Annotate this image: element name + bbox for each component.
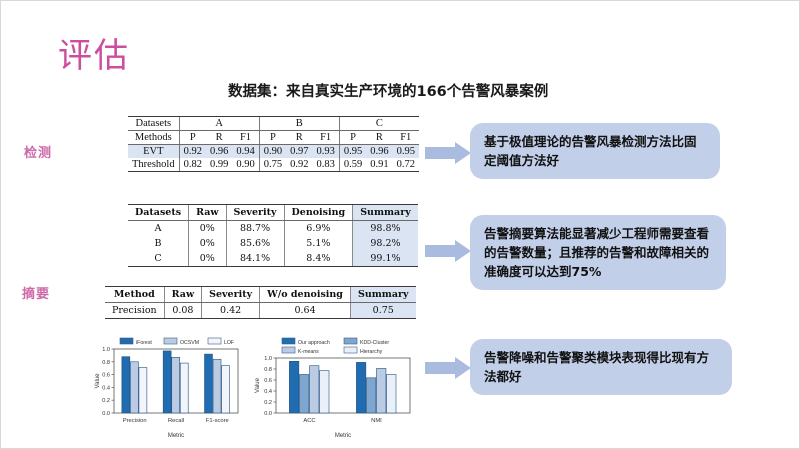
header-c-p: P — [339, 131, 366, 145]
bar-0-1 — [299, 375, 308, 414]
cell-threshold-b-p: 0.75 — [259, 158, 286, 172]
legend-swatch — [282, 347, 295, 353]
cell-evt-c-r: 0.96 — [366, 145, 392, 159]
section-label-summary: 摘要 — [22, 287, 50, 303]
header-raw: Raw — [189, 205, 226, 221]
header-c-f1: F1 — [393, 131, 419, 145]
y-tick-label-4: 0.8 — [102, 360, 110, 366]
cell-raw: 0% — [189, 251, 226, 267]
cell-threshold-a-r: 0.99 — [206, 158, 232, 172]
bar-2-2 — [222, 366, 230, 413]
bar-0-2 — [139, 368, 147, 413]
header-c-r: R — [366, 131, 392, 145]
cell-raw: 0.08 — [164, 303, 201, 319]
cell-summary: 99.1% — [353, 251, 418, 267]
y-axis-label: Value — [255, 377, 261, 393]
y-tick-label-3: 0.6 — [264, 378, 272, 384]
header-method: Method — [105, 287, 164, 303]
header-b-f1: F1 — [312, 131, 339, 145]
callout-detection: 基于极值理论的告警风暴检测方法比固定阈值方法好 — [470, 123, 720, 179]
table-header-row: Method Raw Severity W/o denoising Summar… — [105, 287, 416, 303]
header-datasets: Datasets — [128, 117, 179, 131]
header-summary: Summary — [353, 205, 418, 221]
header-summary: Summary — [350, 287, 415, 303]
cell-threshold-b-f1: 0.83 — [312, 158, 339, 172]
cell-threshold-c-f1: 0.72 — [393, 158, 419, 172]
header-denoising: Denoising — [284, 205, 353, 221]
bar-0-1 — [130, 362, 138, 413]
cell-evt-a-r: 0.96 — [206, 145, 232, 159]
legend-label-2: LOF — [224, 340, 234, 346]
x-axis-label: Metric — [335, 433, 351, 439]
x-axis-label: Metric — [168, 433, 184, 439]
legend-label-2: K-means — [298, 349, 319, 355]
clustering-bar-chart-svg: Our approachKDD-ClusterK-meansHierarchy0… — [252, 336, 414, 439]
cell-threshold-a-f1: 0.90 — [232, 158, 259, 172]
table-row: Threshold 0.82 0.99 0.90 0.75 0.92 0.83 … — [128, 158, 419, 172]
y-axis-label: Value — [95, 373, 101, 389]
y-tick-label-5: 1.0 — [102, 347, 110, 353]
x-tick-label-0: Precision — [123, 418, 147, 424]
header-methods: Methods — [128, 131, 179, 145]
row-label-threshold: Threshold — [128, 158, 179, 172]
legend-swatch — [344, 338, 357, 344]
arrow-right-icon-detection — [425, 142, 471, 164]
legend-label-3: Hierarchy — [360, 349, 383, 355]
header-group-c: C — [339, 117, 419, 131]
legend-swatch — [344, 347, 357, 353]
table-row: EVT 0.92 0.96 0.94 0.90 0.97 0.93 0.95 0… — [128, 145, 419, 159]
table-row: C 0% 84.1% 8.4% 99.1% — [128, 251, 418, 267]
slide-canvas: 评估 数据集：来自真实生产环境的166个告警风暴案例 检测 摘要 Dataset… — [0, 0, 800, 449]
bar-0-3 — [320, 371, 329, 413]
cell-denoising: 8.4% — [284, 251, 353, 267]
header-b-p: P — [259, 131, 286, 145]
callout-clustering: 告警降噪和告警聚类模块表现得比现有方法都好 — [470, 339, 732, 395]
y-tick-label-3: 0.6 — [102, 373, 110, 379]
table-row: A 0% 88.7% 6.9% 98.8% — [128, 221, 418, 237]
header-group-b: B — [259, 117, 339, 131]
table-header-row: Datasets A B C — [128, 117, 419, 131]
header-severity: Severity — [226, 205, 284, 221]
clustering-bar-chart: Our approachKDD-ClusterK-meansHierarchy0… — [252, 336, 414, 439]
arrow-right-icon-summary — [425, 240, 471, 262]
row-label-evt: EVT — [128, 145, 179, 159]
table-row: B 0% 85.6% 5.1% 98.2% — [128, 236, 418, 251]
y-tick-label-5: 1.0 — [264, 356, 272, 362]
cell-evt-a-f1: 0.94 — [232, 145, 259, 159]
header-a-r: R — [206, 131, 232, 145]
cell-summary: 0.75 — [350, 303, 415, 319]
bar-0-0 — [122, 357, 130, 413]
y-tick-label-4: 0.8 — [264, 367, 272, 373]
legend-swatch — [282, 338, 295, 344]
cell-severity: 88.7% — [226, 221, 284, 237]
detection-results-table: Datasets A B C Methods P R F1 P R F1 P R… — [128, 116, 419, 172]
bar-1-0 — [356, 362, 365, 413]
callout-summary: 告警摘要算法能显著减少工程师需要查看的告警数量；且推荐的告警和故障相关的准确度可… — [470, 215, 726, 290]
cell-severity: 0.42 — [202, 303, 260, 319]
row-label-precision: Precision — [105, 303, 164, 319]
cell-raw: 0% — [189, 236, 226, 251]
cell-severity: 85.6% — [226, 236, 284, 251]
y-tick-label-1: 0.2 — [264, 400, 272, 406]
header-b-r: R — [286, 131, 312, 145]
table-header-row: Datasets Raw Severity Denoising Summary — [128, 205, 418, 221]
bar-1-2 — [180, 363, 188, 413]
cell-evt-b-p: 0.90 — [259, 145, 286, 159]
legend-swatch — [120, 338, 133, 344]
cell-threshold-a-p: 0.82 — [179, 158, 206, 172]
bar-1-0 — [163, 351, 171, 413]
table-row: Precision 0.08 0.42 0.64 0.75 — [105, 303, 416, 319]
cell-evt-a-p: 0.92 — [179, 145, 206, 159]
bar-0-0 — [289, 361, 298, 413]
dataset-subtitle: 数据集：来自真实生产环境的166个告警风暴案例 — [228, 82, 548, 102]
header-raw: Raw — [164, 287, 201, 303]
header-a-f1: F1 — [232, 131, 259, 145]
cell-summary: 98.8% — [353, 221, 418, 237]
cell-threshold-c-r: 0.91 — [366, 158, 392, 172]
cell-denoising: 5.1% — [284, 236, 353, 251]
cell-threshold-c-p: 0.59 — [339, 158, 366, 172]
x-tick-label-2: F1-score — [206, 418, 229, 424]
header-group-a: A — [179, 117, 259, 131]
arrow-right-icon-charts — [425, 357, 471, 379]
legend-label-0: Our approach — [298, 340, 330, 346]
table-subheader-row: Methods P R F1 P R F1 P R F1 — [128, 131, 419, 145]
anomaly-detection-bar-chart-svg: iForestOCSVMLOF0.00.20.40.60.81.0Precisi… — [92, 336, 242, 439]
bar-1-3 — [387, 375, 396, 414]
y-tick-label-1: 0.2 — [102, 398, 110, 404]
y-tick-label-2: 0.4 — [264, 389, 272, 395]
cell-raw: 0% — [189, 221, 226, 237]
anomaly-detection-bar-chart: iForestOCSVMLOF0.00.20.40.60.81.0Precisi… — [92, 336, 242, 439]
header-datasets: Datasets — [128, 205, 189, 221]
legend-label-1: OCSVM — [180, 340, 199, 346]
cell-evt-c-f1: 0.95 — [393, 145, 419, 159]
header-a-p: P — [179, 131, 206, 145]
y-tick-label-0: 0.0 — [264, 411, 272, 417]
bar-1-2 — [377, 368, 386, 413]
header-wo-denoising: W/o denoising — [260, 287, 351, 303]
cell-dataset: B — [128, 236, 189, 251]
cell-severity: 84.1% — [226, 251, 284, 267]
x-tick-label-1: NMI — [371, 418, 382, 424]
section-label-detection: 检测 — [24, 146, 52, 162]
legend-label-1: KDD-Cluster — [360, 340, 389, 346]
bar-0-2 — [310, 366, 319, 413]
cell-evt-c-p: 0.95 — [339, 145, 366, 159]
cell-evt-b-f1: 0.93 — [312, 145, 339, 159]
cell-summary: 98.2% — [353, 236, 418, 251]
page-title: 评估 — [58, 36, 130, 76]
x-tick-label-1: Recall — [168, 418, 184, 424]
legend-swatch — [208, 338, 221, 344]
cell-dataset: A — [128, 221, 189, 237]
y-tick-label-0: 0.0 — [102, 411, 110, 417]
bar-2-1 — [213, 359, 221, 413]
cell-threshold-b-r: 0.92 — [286, 158, 312, 172]
precision-results-table: Method Raw Severity W/o denoising Summar… — [105, 286, 416, 319]
legend-label-0: iForest — [136, 340, 152, 346]
y-tick-label-2: 0.4 — [102, 385, 110, 391]
legend-swatch — [164, 338, 177, 344]
bar-1-1 — [366, 378, 375, 413]
x-tick-label-0: ACC — [303, 418, 315, 424]
cell-wo-denoising: 0.64 — [260, 303, 351, 319]
bar-1-1 — [172, 357, 180, 413]
summary-results-table: Datasets Raw Severity Denoising Summary … — [128, 204, 418, 267]
header-severity: Severity — [202, 287, 260, 303]
cell-denoising: 6.9% — [284, 221, 353, 237]
cell-evt-b-r: 0.97 — [286, 145, 312, 159]
cell-dataset: C — [128, 251, 189, 267]
bar-2-0 — [205, 354, 213, 413]
